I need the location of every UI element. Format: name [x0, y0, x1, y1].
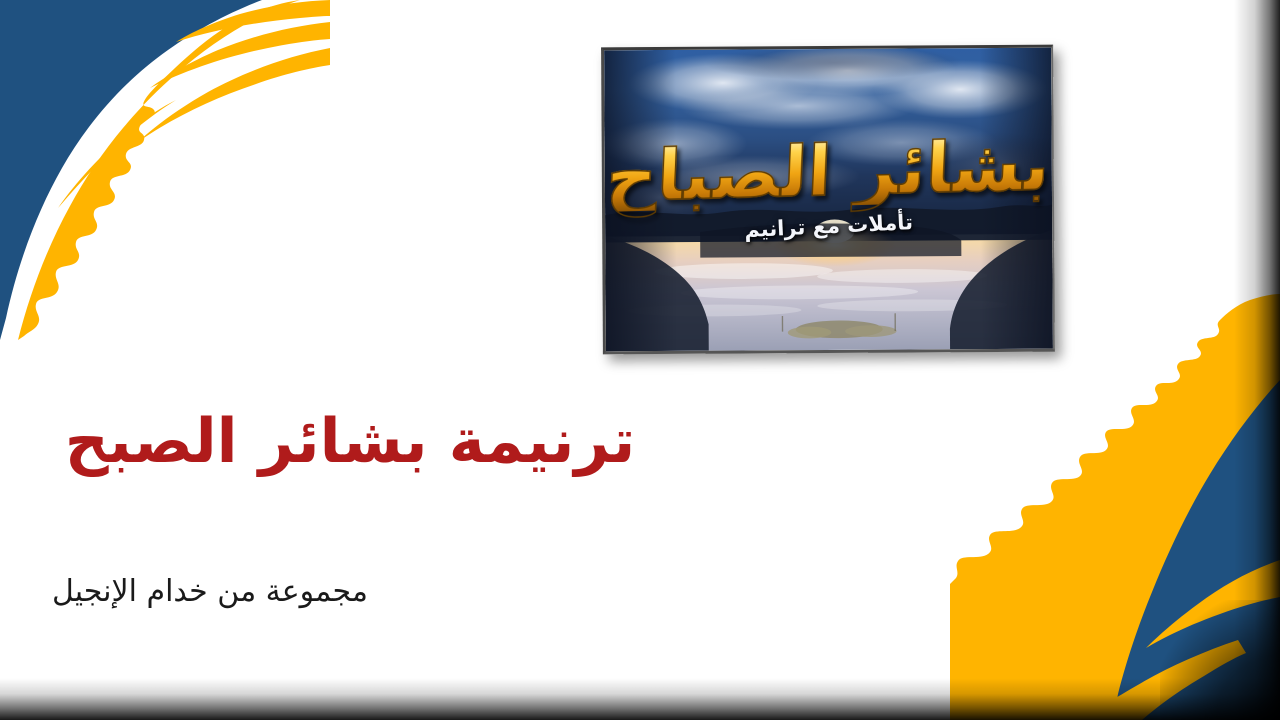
- page-edge-shadow-bottom: [0, 678, 1280, 720]
- slide-canvas: بشائر الصباح تأملات مع ترانيم ترنيمة بشا…: [0, 0, 1280, 720]
- page-edge-shadow-corner: [1160, 600, 1280, 720]
- feather-barb-1: [176, 0, 330, 42]
- feather-barb-5: [1146, 560, 1280, 648]
- page-title: ترنيمة بشائر الصبح: [0, 404, 700, 480]
- feather-decoration-top-left: [0, 0, 330, 340]
- feather-barb-3: [138, 48, 330, 142]
- page-subtitle: مجموعة من خدام الإنجيل: [0, 572, 420, 611]
- feather-barb-4: [58, 100, 176, 208]
- feather-blue-body: [0, 0, 262, 340]
- feather-yellow-vane: [18, 0, 300, 340]
- feather-yellow-vane-2: [950, 294, 1280, 720]
- title-picture: بشائر الصباح تأملات مع ترانيم: [601, 45, 1055, 355]
- feather-blue-body-2: [1113, 380, 1280, 720]
- page-edge-shadow-right: [1234, 0, 1280, 720]
- picture-artwork: [604, 48, 1053, 352]
- feather-barb-6: [1078, 640, 1246, 720]
- feather-barb-2: [150, 22, 330, 88]
